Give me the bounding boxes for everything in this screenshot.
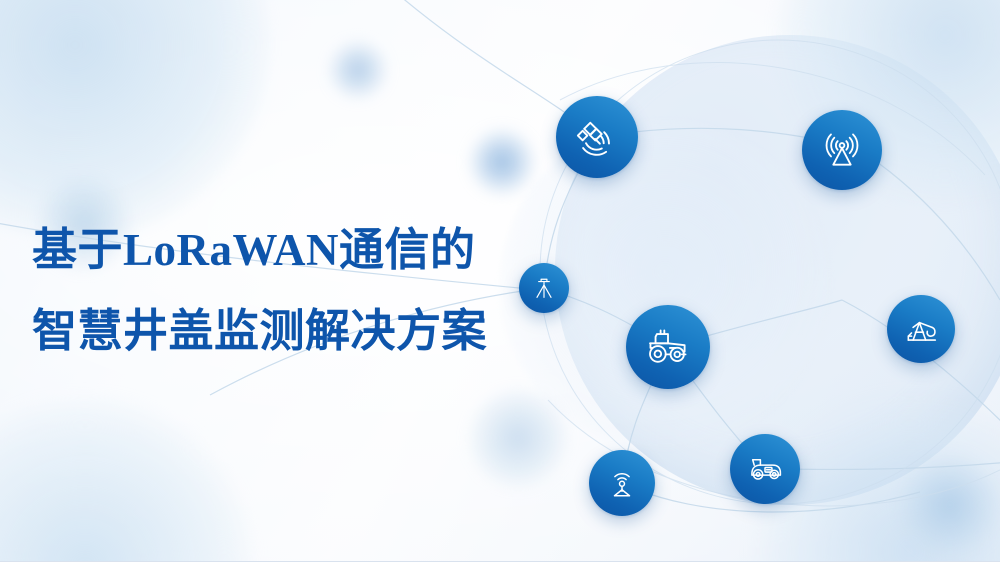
title-line-primary: 基于LoRaWAN通信的: [30, 228, 487, 273]
tractor-icon: [644, 323, 692, 371]
radio-tower-icon: [820, 128, 864, 172]
node-oil-pumpjack[interactable]: [887, 295, 955, 363]
page-title: 基于LoRaWAN通信的 智慧井盖监测解决方案: [30, 228, 487, 354]
node-satellite[interactable]: [556, 96, 638, 178]
title-slide: 基于LoRaWAN通信的 智慧井盖监测解决方案: [0, 0, 1000, 562]
title-line-secondary: 智慧井盖监测解决方案: [30, 309, 487, 354]
signal-beacon-icon: [604, 465, 640, 501]
node-survey-tripod[interactable]: [519, 263, 569, 313]
node-radio-tower[interactable]: [802, 110, 882, 190]
satellite-icon: [574, 114, 620, 160]
robotic-mower-icon: [745, 449, 785, 489]
node-tractor[interactable]: [626, 305, 710, 389]
oil-pumpjack-icon: [902, 310, 940, 348]
survey-tripod-icon: [530, 274, 558, 302]
node-robotic-mower[interactable]: [730, 434, 800, 504]
node-signal-beacon[interactable]: [589, 450, 655, 516]
